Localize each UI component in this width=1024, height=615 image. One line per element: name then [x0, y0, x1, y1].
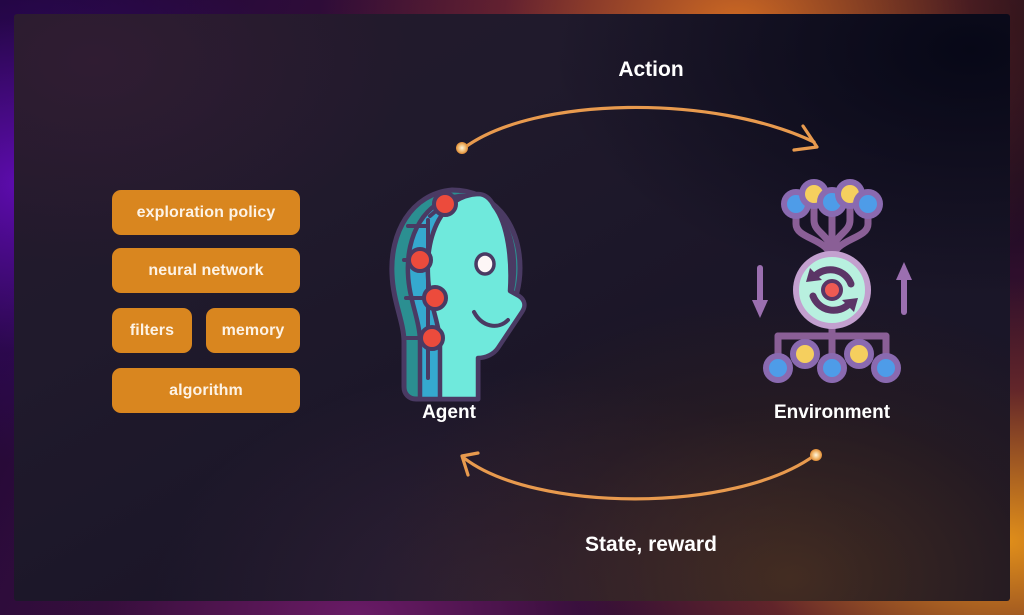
- flow-label-state-reward: State, reward: [516, 533, 786, 557]
- flow-arrow-state-reward: [462, 449, 822, 499]
- flow-arrows-layer: [14, 14, 1010, 601]
- diagram-panel: exploration policy neural network filter…: [14, 14, 1010, 601]
- diagram-canvas: exploration policy neural network filter…: [0, 0, 1024, 615]
- state-reward-start-dot: [810, 449, 822, 461]
- flow-arrow-action: [456, 107, 817, 154]
- action-start-dot: [456, 142, 468, 154]
- flow-label-action: Action: [526, 58, 776, 82]
